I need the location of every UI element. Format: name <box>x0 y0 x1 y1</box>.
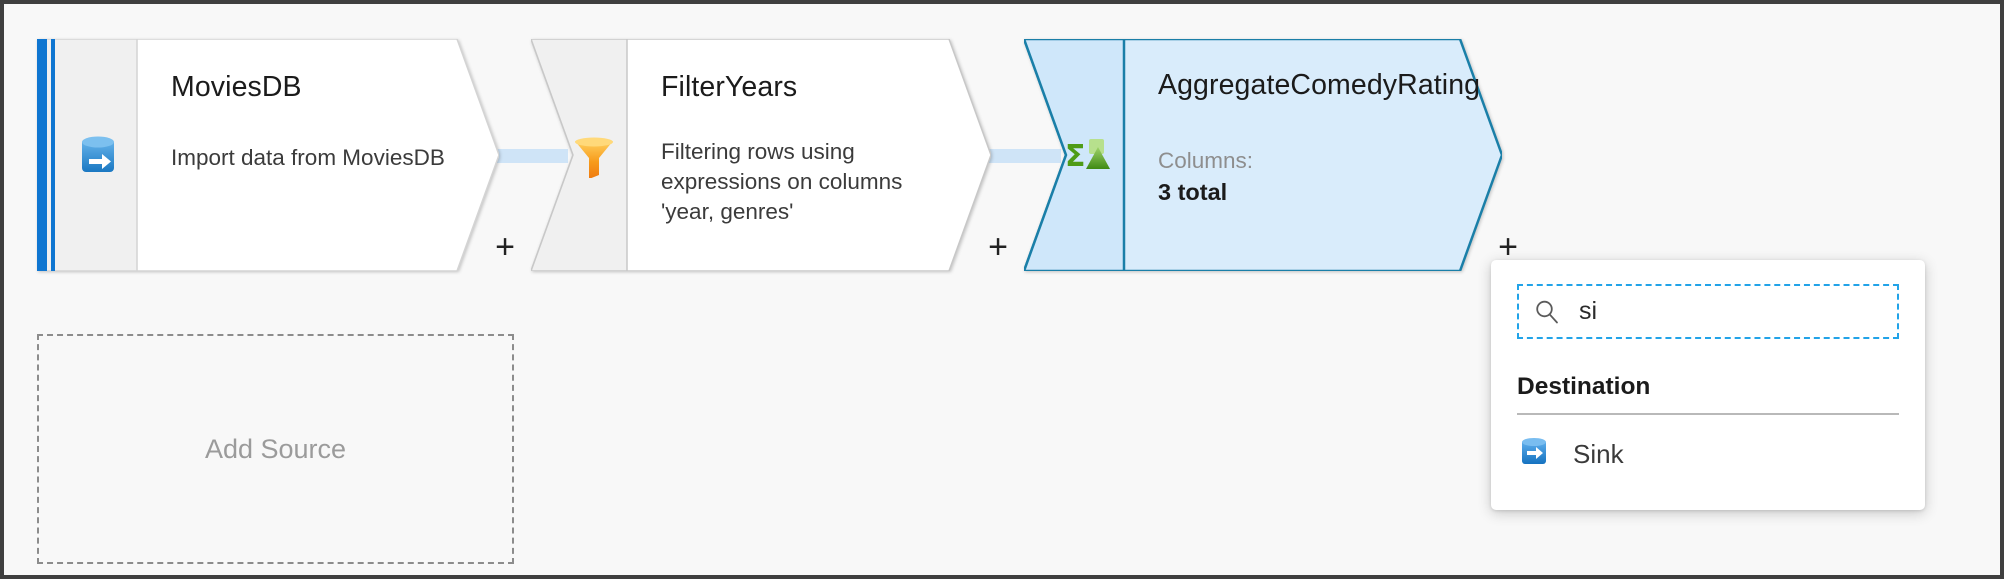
node-aggregatecomedyrating[interactable]: Σ AggregateComedyRating Columns: 3 total <box>1024 39 1502 271</box>
destination-divider <box>1517 413 1899 415</box>
node-filteryears-body: FilterYears Filtering rows using express… <box>627 39 991 271</box>
node-filteryears[interactable]: FilterYears Filtering rows using express… <box>531 39 991 271</box>
accent-bar-thin <box>51 39 55 271</box>
node-moviesdb-title: MoviesDB <box>171 73 465 103</box>
accent-bar-thick <box>37 39 47 271</box>
search-input[interactable] <box>1577 296 1881 327</box>
source-accent-bars <box>37 39 59 271</box>
node-moviesdb[interactable]: MoviesDB Import data from MoviesDB <box>37 39 499 271</box>
popup-item-sink[interactable]: Sink <box>1517 435 1899 474</box>
search-field-wrapper[interactable] <box>1517 284 1899 339</box>
add-source-placeholder[interactable]: Add Source <box>37 334 514 564</box>
search-icon <box>1533 298 1561 326</box>
node-moviesdb-body: MoviesDB Import data from MoviesDB <box>137 39 499 271</box>
add-step-popup[interactable]: Destination Sink <box>1491 260 1925 510</box>
sink-database-icon <box>1517 435 1551 474</box>
node-filteryears-description: Filtering rows using expressions on colu… <box>661 137 961 227</box>
node-filteryears-title: FilterYears <box>661 73 957 103</box>
data-flow-canvas[interactable]: MoviesDB Import data from MoviesDB + <box>0 0 2004 579</box>
popup-item-sink-label: Sink <box>1573 439 1624 470</box>
node-aggregate-columns-value: 3 total <box>1158 178 1468 206</box>
node-aggregate-columns-label: Columns: <box>1158 147 1468 174</box>
node-aggregate-body: AggregateComedyRating Columns: 3 total <box>1124 39 1502 271</box>
destination-section-heading: Destination <box>1517 373 1899 401</box>
add-after-moviesdb-button[interactable]: + <box>488 232 522 266</box>
node-aggregate-title: AggregateComedyRating <box>1158 71 1468 101</box>
add-source-label: Add Source <box>205 434 346 465</box>
node-moviesdb-description: Import data from MoviesDB <box>171 143 465 173</box>
add-after-filteryears-button[interactable]: + <box>981 232 1015 266</box>
